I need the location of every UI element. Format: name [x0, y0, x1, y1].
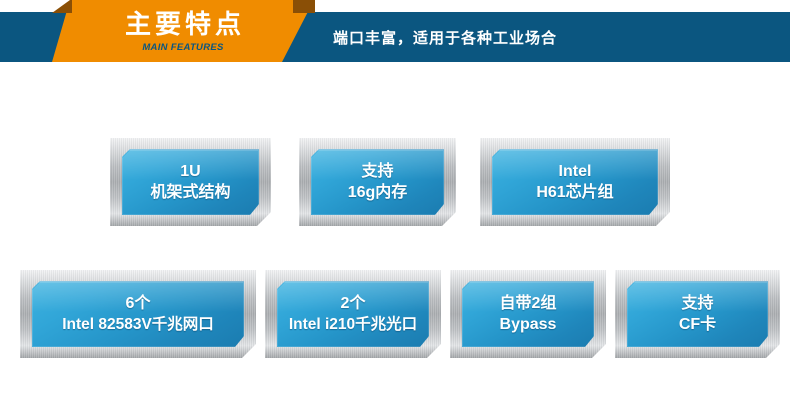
feature-title: 支持	[361, 162, 393, 182]
feature-title: 支持	[681, 294, 713, 314]
page-subtitle: MAIN FEATURES	[142, 42, 223, 53]
feature-card-bypass: 自带2组 Bypass	[450, 270, 606, 358]
feature-detail: 机架式结构	[150, 183, 230, 203]
feature-detail: Intel 82583V千兆网口	[62, 315, 214, 335]
feature-card-panel: 支持 16g内存	[311, 149, 444, 215]
page-title: 主要特点	[121, 11, 245, 38]
banner-title-group: 主要特点 MAIN FEATURES	[52, 2, 314, 62]
feature-card-panel: 自带2组 Bypass	[462, 281, 594, 347]
feature-card-panel: 支持 CF卡	[627, 281, 768, 347]
feature-card-lan-ports: 6个 Intel 82583V千兆网口	[20, 270, 256, 358]
feature-card-memory: 支持 16g内存	[299, 138, 456, 226]
feature-title: 1U	[180, 162, 200, 182]
feature-card-cf-card: 支持 CF卡	[615, 270, 780, 358]
feature-title: 6个	[126, 294, 151, 314]
feature-card-panel: Intel H61芯片组	[492, 149, 658, 215]
feature-detail: 16g内存	[348, 183, 408, 203]
feature-title: 自带2组	[500, 294, 557, 314]
feature-card-panel: 1U 机架式结构	[122, 149, 259, 215]
banner-tagline: 端口丰富，适用于各种工业场合	[333, 12, 557, 62]
feature-detail: CF卡	[679, 315, 716, 335]
feature-card-1u: 1U 机架式结构	[110, 138, 271, 226]
feature-detail: Bypass	[500, 315, 557, 335]
feature-card-panel: 2个 Intel i210千兆光口	[277, 281, 429, 347]
feature-detail: Intel i210千兆光口	[289, 315, 417, 335]
feature-card-chipset: Intel H61芯片组	[480, 138, 670, 226]
feature-card-panel: 6个 Intel 82583V千兆网口	[32, 281, 244, 347]
feature-title: Intel	[559, 162, 592, 182]
feature-title: 2个	[341, 294, 366, 314]
feature-grid: 1U 机架式结构 支持 16g内存 Intel H61芯片组 6个	[0, 0, 790, 414]
feature-card-fiber-ports: 2个 Intel i210千兆光口	[265, 270, 441, 358]
feature-detail: H61芯片组	[536, 183, 613, 203]
